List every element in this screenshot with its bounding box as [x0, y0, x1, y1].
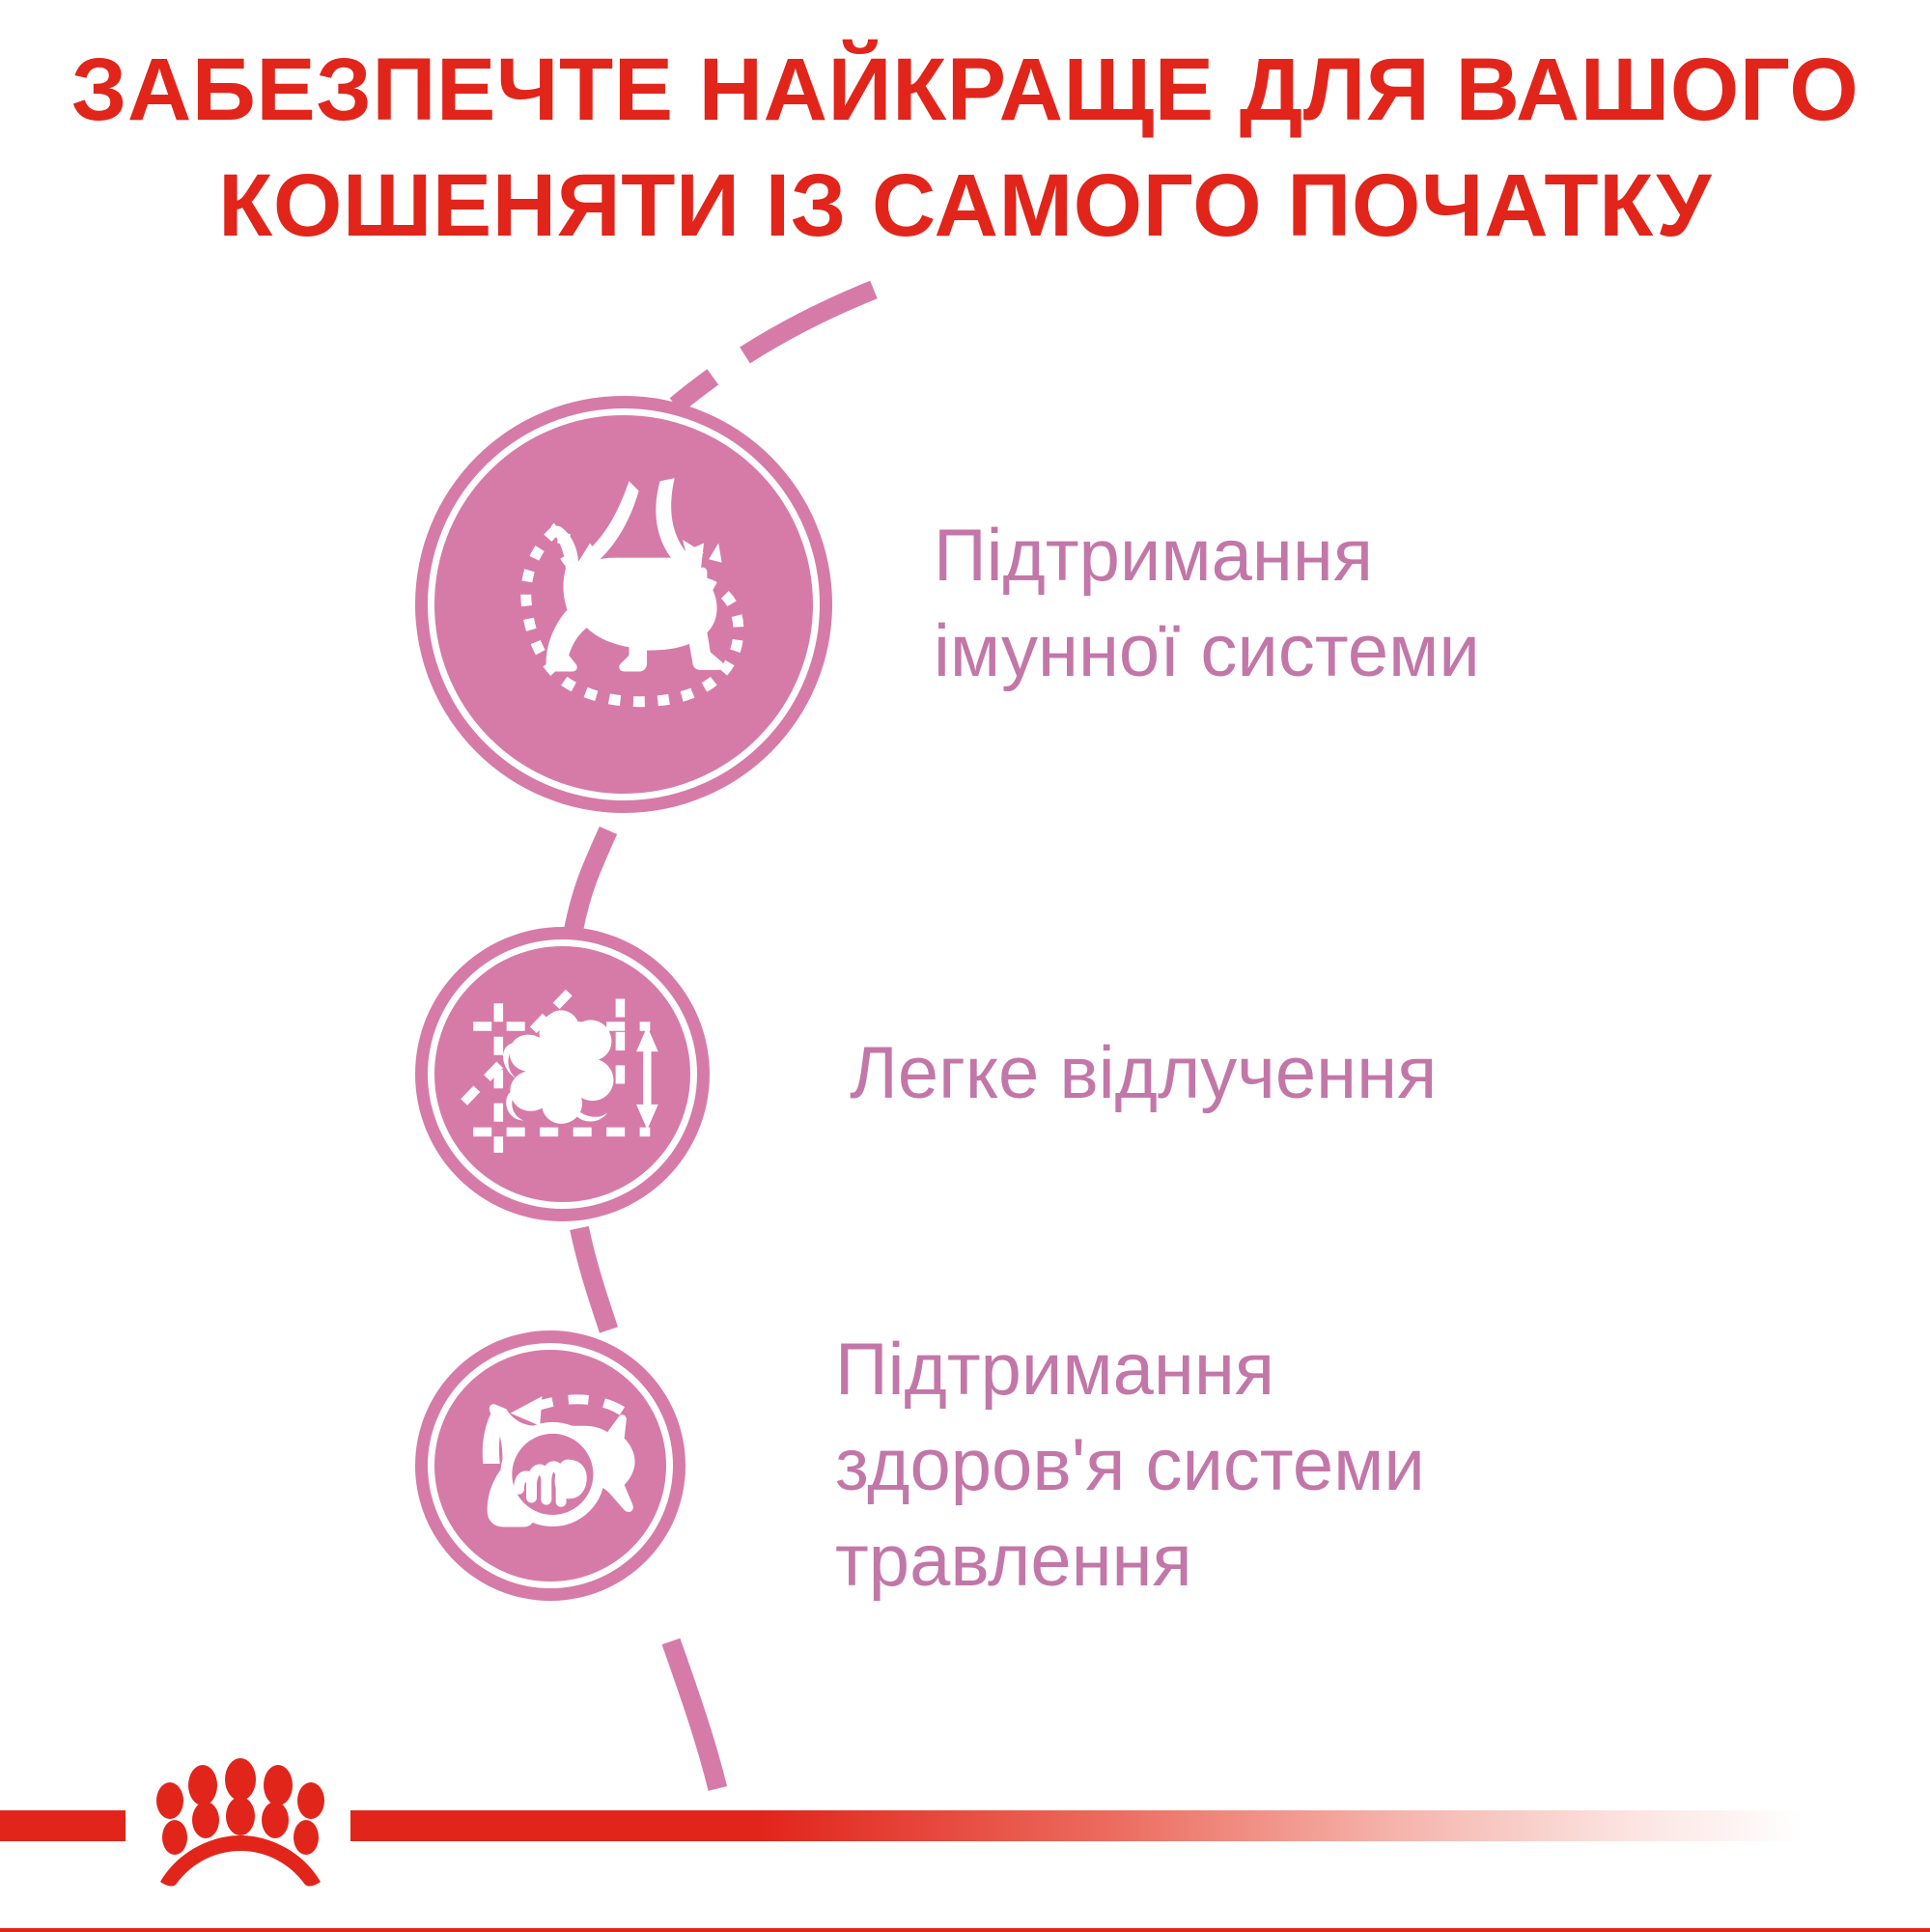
benefit-label: Підтримання здоров'я системи травлення	[835, 1323, 1608, 1609]
benefit-label: Підтримання імунної системи	[934, 509, 1696, 700]
kibble-size-measure-icon	[448, 960, 678, 1190]
benefit-list: Підтримання імунної системи	[0, 0, 1930, 1932]
benefit-icon-badge	[415, 927, 710, 1221]
list-item: Легке відлучення	[415, 927, 1612, 1221]
royal-canin-crown-logo	[126, 1756, 355, 1891]
brand-footer	[0, 1756, 1930, 1932]
kitten-immune-shield-icon	[462, 442, 787, 768]
list-item: Підтримання здоров'я системи травлення	[415, 1323, 1608, 1609]
benefit-icon-badge	[415, 1330, 685, 1601]
list-item: Підтримання імунної системи	[415, 396, 1696, 813]
kitten-benefits-infographic: ЗАБЕЗПЕЧТЕ НАЙКРАЩЕ ДЛЯ ВАШОГО КОШЕНЯТИ …	[0, 0, 1930, 1932]
benefit-label: Легке відлучення	[850, 1026, 1612, 1122]
brand-stripe-left	[0, 1810, 126, 1841]
benefit-icon-badge	[415, 396, 832, 813]
footer-hairline	[0, 1928, 1930, 1932]
brand-stripe-right	[350, 1810, 1930, 1841]
kitten-digestive-health-icon	[445, 1360, 656, 1571]
